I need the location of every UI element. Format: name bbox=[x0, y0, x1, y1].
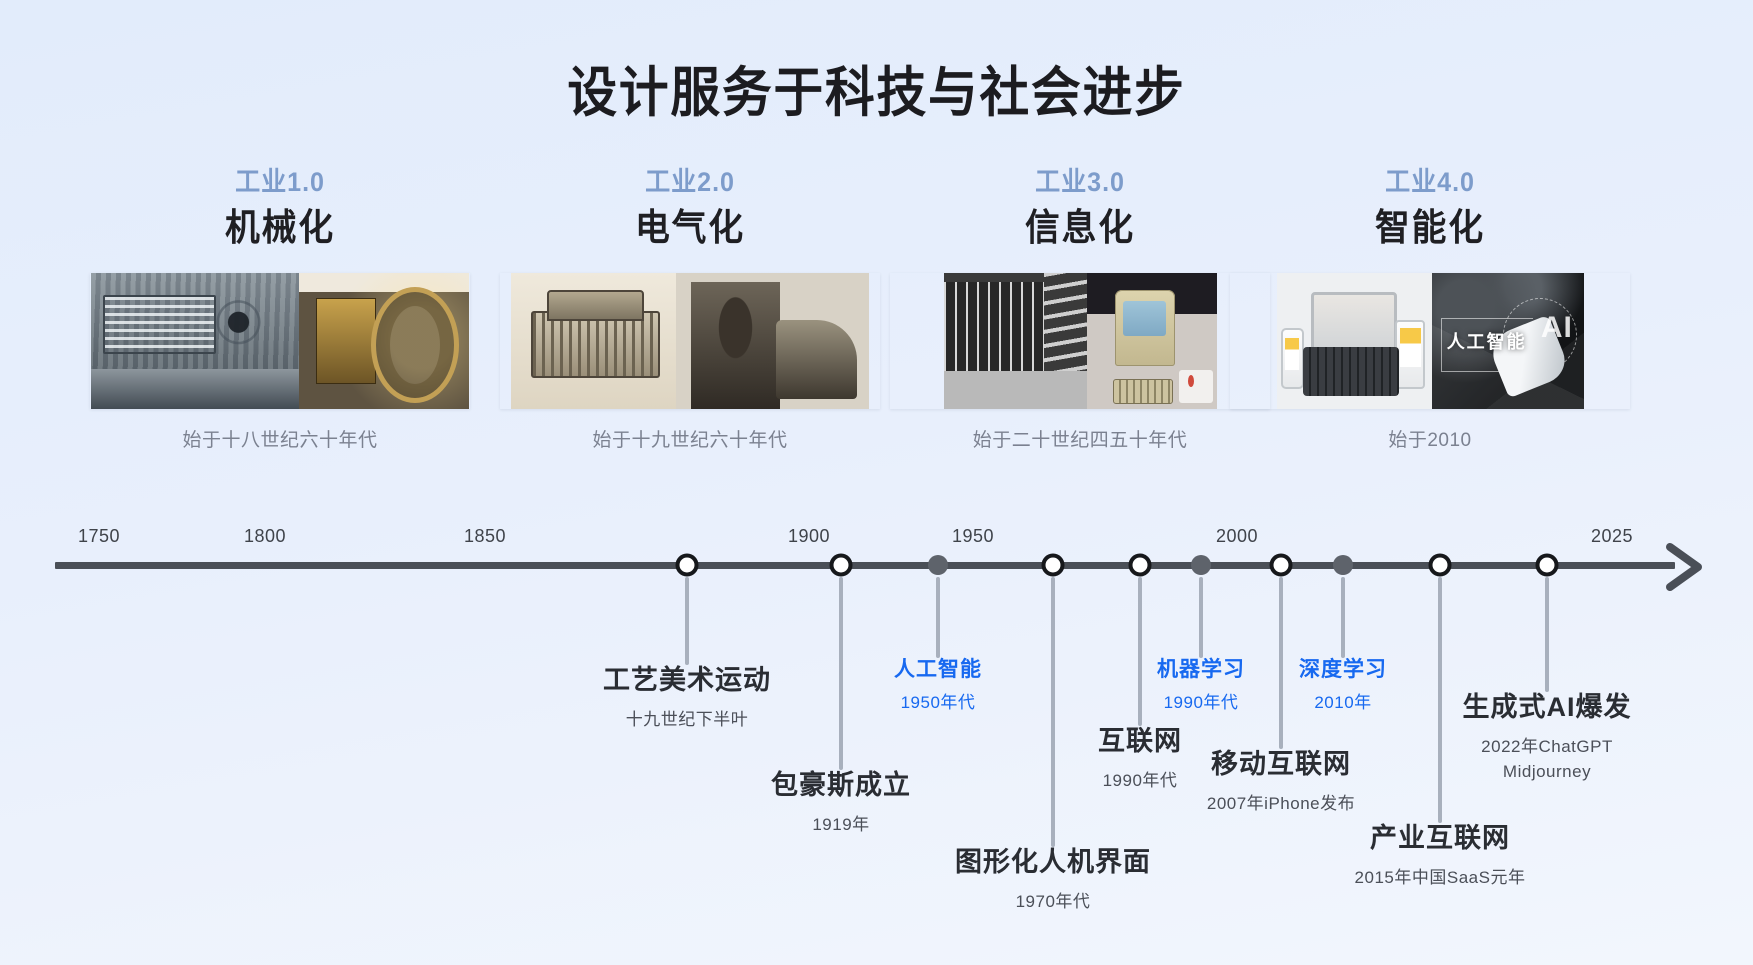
timeline-marker-deep-learning[interactable] bbox=[1333, 555, 1353, 575]
connector-stem bbox=[1341, 577, 1345, 658]
connector-stem bbox=[1279, 577, 1283, 749]
event-industrial-internet[interactable]: 产业互联网 2015年中国SaaS元年 bbox=[1355, 823, 1526, 891]
event-title: 生成式AI爆发 bbox=[1463, 692, 1632, 723]
event-graphical-user-interface[interactable]: 图形化人机界面 1970年代 bbox=[955, 847, 1151, 915]
event-subtitle: 2010年 bbox=[1299, 691, 1387, 716]
event-title: 互联网 bbox=[1098, 726, 1182, 757]
event-subtitle: 1919年 bbox=[771, 813, 911, 838]
year-tick-2000: 2000 bbox=[1216, 526, 1258, 547]
event-title: 机器学习 bbox=[1157, 658, 1245, 682]
connector-stem bbox=[1051, 577, 1055, 847]
connector-stem bbox=[936, 577, 940, 658]
event-title: 包豪斯成立 bbox=[771, 770, 911, 801]
event-title: 产业互联网 bbox=[1355, 823, 1526, 854]
event-internet[interactable]: 互联网 1990年代 bbox=[1098, 726, 1182, 794]
year-tick-1950: 1950 bbox=[952, 526, 994, 547]
timeline-marker-generative-ai[interactable] bbox=[1536, 554, 1559, 577]
event-title: 工艺美术运动 bbox=[603, 665, 771, 696]
connector-stem bbox=[839, 577, 843, 770]
connector-stem bbox=[1545, 577, 1549, 692]
event-subtitle: 1950年代 bbox=[894, 691, 982, 716]
timeline-marker-bauhaus[interactable] bbox=[830, 554, 853, 577]
year-tick-1850: 1850 bbox=[464, 526, 506, 547]
connector-stem bbox=[1138, 577, 1142, 726]
event-subtitle: 1970年代 bbox=[955, 890, 1151, 915]
event-subtitle: 十九世纪下半叶 bbox=[603, 708, 771, 733]
event-mobile-internet[interactable]: 移动互联网 2007年iPhone发布 bbox=[1207, 749, 1355, 817]
event-subtitle: 1990年代 bbox=[1098, 769, 1182, 794]
event-bauhaus-founded[interactable]: 包豪斯成立 1919年 bbox=[771, 770, 911, 838]
timeline-marker-gui[interactable] bbox=[1042, 554, 1065, 577]
event-machine-learning[interactable]: 机器学习 1990年代 bbox=[1157, 658, 1245, 716]
year-tick-2025: 2025 bbox=[1591, 526, 1633, 547]
year-tick-1750: 1750 bbox=[78, 526, 120, 547]
timeline-marker-machine-learning[interactable] bbox=[1191, 555, 1211, 575]
event-arts-crafts-movement[interactable]: 工艺美术运动 十九世纪下半叶 bbox=[603, 665, 771, 733]
year-tick-1800: 1800 bbox=[244, 526, 286, 547]
event-artificial-intelligence[interactable]: 人工智能 1950年代 bbox=[894, 658, 982, 716]
timeline-marker-artificial-intelligence[interactable] bbox=[928, 555, 948, 575]
connector-stem bbox=[1438, 577, 1442, 823]
event-deep-learning[interactable]: 深度学习 2010年 bbox=[1299, 658, 1387, 716]
event-generative-ai-boom[interactable]: 生成式AI爆发 2022年ChatGPT Midjourney bbox=[1463, 692, 1632, 784]
timeline-marker-mobile-internet[interactable] bbox=[1270, 554, 1293, 577]
year-tick-1900: 1900 bbox=[788, 526, 830, 547]
event-subtitle: 1990年代 bbox=[1157, 691, 1245, 716]
event-title: 移动互联网 bbox=[1207, 749, 1355, 780]
event-title: 图形化人机界面 bbox=[955, 847, 1151, 878]
event-subtitle: 2022年ChatGPT Midjourney bbox=[1463, 735, 1632, 784]
event-subtitle: 2007年iPhone发布 bbox=[1207, 792, 1355, 817]
event-title: 人工智能 bbox=[894, 658, 982, 682]
timeline-marker-arts-crafts[interactable] bbox=[676, 554, 699, 577]
timeline-marker-internet[interactable] bbox=[1129, 554, 1152, 577]
event-title: 深度学习 bbox=[1299, 658, 1387, 682]
connector-stem bbox=[685, 577, 689, 665]
connector-stem bbox=[1199, 577, 1203, 658]
event-subtitle: 2015年中国SaaS元年 bbox=[1355, 866, 1526, 891]
timeline-marker-industrial-internet[interactable] bbox=[1429, 554, 1452, 577]
